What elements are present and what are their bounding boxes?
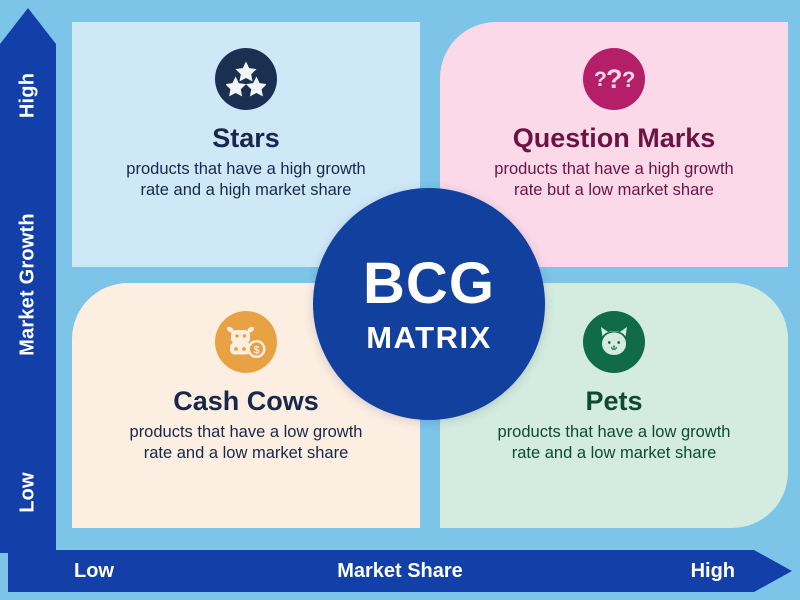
quadrant-title: Question Marks	[513, 124, 716, 154]
three-stars-icon	[215, 48, 277, 110]
svg-text:?: ?	[606, 64, 623, 94]
bcg-matrix-diagram: High Market Growth Low Low Market Share …	[0, 0, 800, 600]
svg-text:$: $	[253, 344, 259, 356]
market-share-low-label: Low	[74, 560, 114, 583]
market-growth-axis-label: Market Growth	[17, 213, 40, 356]
quadrant-description: products that have a low growth rate and…	[121, 422, 371, 466]
quadrant-title: Stars	[212, 124, 280, 154]
quadrant-title: Cash Cows	[173, 387, 319, 417]
cat-face-icon	[583, 311, 645, 373]
quadrant-description: products that have a low growth rate and…	[489, 422, 739, 466]
market-growth-high-label: High	[17, 73, 40, 118]
svg-text:?: ?	[622, 67, 635, 92]
svg-text:?: ?	[594, 68, 607, 91]
market-share-axis-arrow: Low Market Share High	[8, 550, 792, 592]
three-question-marks-icon: ? ? ?	[583, 48, 645, 110]
quadrant-description: products that have a high growth rate an…	[121, 159, 371, 203]
cow-with-coin-icon: $	[215, 311, 277, 373]
quadrant-title: Pets	[585, 387, 642, 417]
quadrant-description: products that have a high growth rate bu…	[489, 159, 739, 203]
market-share-axis-label: Market Share	[337, 560, 463, 583]
market-share-high-label: High	[691, 560, 735, 583]
center-subtitle: MATRIX	[366, 322, 492, 353]
center-title: BCG	[363, 255, 495, 313]
market-growth-low-label: Low	[17, 472, 40, 513]
market-growth-axis-arrow: High Market Growth Low	[0, 8, 56, 553]
bcg-matrix-center-badge: BCG MATRIX	[313, 188, 545, 420]
